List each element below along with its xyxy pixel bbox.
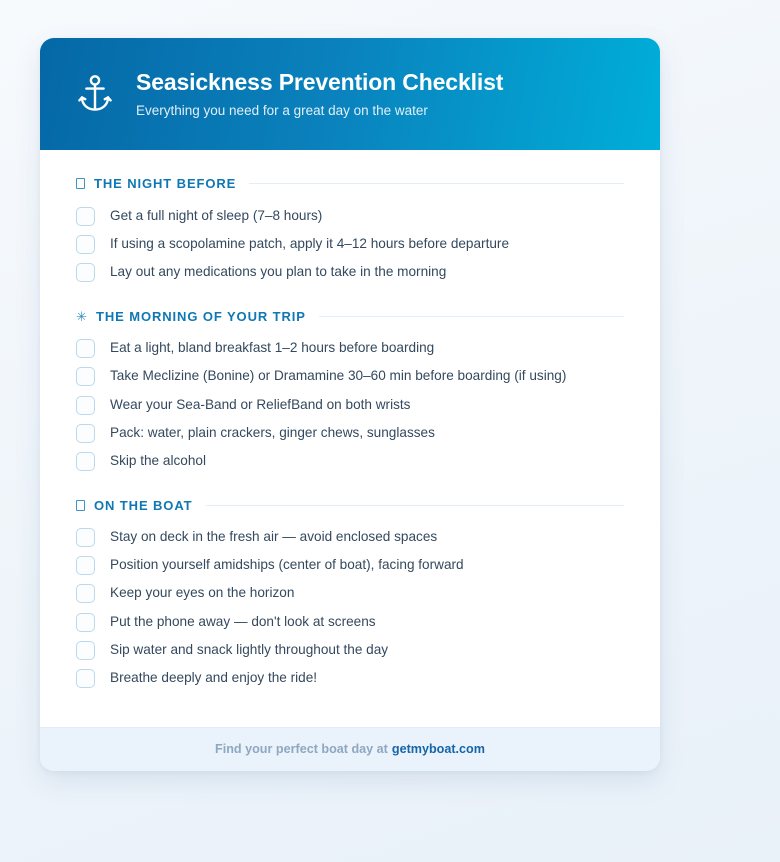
sun-icon: ✳ (76, 310, 87, 323)
section-title: THE NIGHT BEFORE (94, 176, 236, 191)
list-item-label: Position yourself amidships (center of b… (110, 557, 464, 574)
checkbox[interactable] (76, 367, 95, 386)
check-list: Stay on deck in the fresh air — avoid en… (76, 524, 624, 693)
list-item-label: Eat a light, bland breakfast 1–2 hours b… (110, 340, 434, 357)
check-list: Get a full night of sleep (7–8 hours) If… (76, 202, 624, 287)
checkbox[interactable] (76, 263, 95, 282)
list-item-label: Skip the alcohol (110, 453, 206, 470)
checkbox[interactable] (76, 207, 95, 226)
list-item-label: Sip water and snack lightly throughout t… (110, 642, 388, 659)
checkbox[interactable] (76, 528, 95, 547)
page-title: Seasickness Prevention Checklist (136, 69, 503, 95)
checkbox[interactable] (76, 556, 95, 575)
list-item-label: Keep your eyes on the horizon (110, 585, 294, 602)
list-item[interactable]: Eat a light, bland breakfast 1–2 hours b… (76, 335, 624, 363)
list-item[interactable]: Stay on deck in the fresh air — avoid en… (76, 524, 624, 552)
list-item[interactable]: Position yourself amidships (center of b… (76, 552, 624, 580)
list-item-label: Wear your Sea-Band or ReliefBand on both… (110, 397, 410, 414)
getmyboat-link[interactable]: getmyboat.com (392, 742, 485, 756)
list-item[interactable]: Sip water and snack lightly throughout t… (76, 636, 624, 664)
list-item-label: Stay on deck in the fresh air — avoid en… (110, 529, 437, 546)
anchor-icon (72, 70, 118, 118)
list-item[interactable]: Lay out any medications you plan to take… (76, 258, 624, 286)
footer-text: Find your perfect boat day at (215, 742, 388, 756)
list-item[interactable]: Take Meclizine (Bonine) or Dramamine 30–… (76, 363, 624, 391)
header-text-group: Seasickness Prevention Checklist Everyth… (136, 69, 503, 119)
section-the-night-before: THE NIGHT BEFORE Get a full night of sle… (76, 176, 624, 287)
list-item[interactable]: Skip the alcohol (76, 447, 624, 475)
card-header: Seasickness Prevention Checklist Everyth… (40, 38, 660, 150)
checklist-card: Seasickness Prevention Checklist Everyth… (40, 38, 660, 771)
section-divider (249, 183, 624, 184)
list-item[interactable]: Breathe deeply and enjoy the ride! (76, 664, 624, 692)
section-header: ✳ THE MORNING OF YOUR TRIP (76, 309, 624, 324)
page-background: Seasickness Prevention Checklist Everyth… (0, 0, 780, 862)
list-item-label: Put the phone away — don't look at scree… (110, 614, 376, 631)
section-title: ON THE BOAT (94, 498, 193, 513)
section-the-morning-of-your-trip: ✳ THE MORNING OF YOUR TRIP Eat a light, … (76, 309, 624, 476)
list-item-label: If using a scopolamine patch, apply it 4… (110, 236, 509, 253)
section-on-the-boat: ON THE BOAT Stay on deck in the fresh ai… (76, 498, 624, 693)
section-header: THE NIGHT BEFORE (76, 176, 624, 191)
checklist-body: THE NIGHT BEFORE Get a full night of sle… (40, 150, 660, 727)
list-item-label: Pack: water, plain crackers, ginger chew… (110, 425, 435, 442)
checkbox[interactable] (76, 235, 95, 254)
list-item-label: Breathe deeply and enjoy the ride! (110, 670, 317, 687)
check-list: Eat a light, bland breakfast 1–2 hours b… (76, 335, 624, 476)
checkbox[interactable] (76, 424, 95, 443)
moon-icon (76, 178, 85, 189)
list-item[interactable]: Put the phone away — don't look at scree… (76, 608, 624, 636)
list-item[interactable]: Pack: water, plain crackers, ginger chew… (76, 419, 624, 447)
list-item[interactable]: Get a full night of sleep (7–8 hours) (76, 202, 624, 230)
checkbox[interactable] (76, 613, 95, 632)
list-item-label: Take Meclizine (Bonine) or Dramamine 30–… (110, 368, 566, 385)
boat-icon (76, 500, 85, 511)
list-item[interactable]: Wear your Sea-Band or ReliefBand on both… (76, 391, 624, 419)
list-item-label: Get a full night of sleep (7–8 hours) (110, 208, 322, 225)
checkbox[interactable] (76, 339, 95, 358)
card-footer: Find your perfect boat day at getmyboat.… (40, 727, 660, 771)
list-item[interactable]: Keep your eyes on the horizon (76, 580, 624, 608)
section-divider (206, 505, 625, 506)
checkbox[interactable] (76, 669, 95, 688)
section-title: THE MORNING OF YOUR TRIP (96, 309, 306, 324)
list-item[interactable]: If using a scopolamine patch, apply it 4… (76, 230, 624, 258)
checkbox[interactable] (76, 584, 95, 603)
list-item-label: Lay out any medications you plan to take… (110, 264, 446, 281)
page-subtitle: Everything you need for a great day on t… (136, 103, 503, 119)
checkbox[interactable] (76, 396, 95, 415)
section-divider (319, 316, 624, 317)
checkbox[interactable] (76, 452, 95, 471)
checkbox[interactable] (76, 641, 95, 660)
section-header: ON THE BOAT (76, 498, 624, 513)
